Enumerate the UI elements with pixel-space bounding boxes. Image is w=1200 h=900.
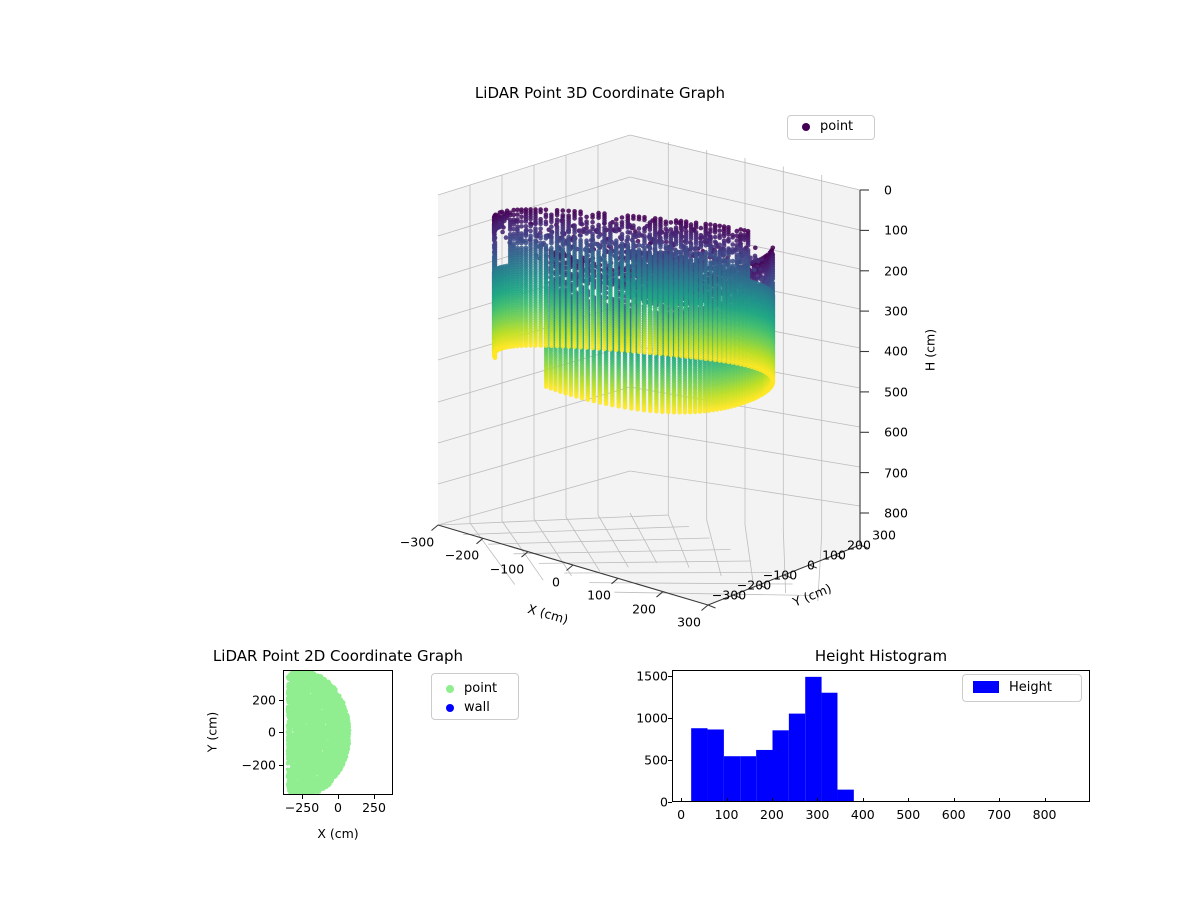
x-tickmark-hist [772,798,773,802]
z-tick-label: 0 [884,183,892,198]
y-tickmark-hist [668,676,672,677]
x-axis-label-2d: X (cm) [317,826,358,841]
x-tick-label: 200 [632,602,656,617]
legend-entry-wall-2d: wall [440,698,510,717]
x-tickmark-hist [727,798,728,802]
y-tick-label-2d: 200 [228,693,276,708]
axes-3d[interactable]: 0 100 200 300 400 500 600 700 800 H (cm)… [330,105,890,650]
x-tickmark-hist [817,798,818,802]
x-tickmark-hist [863,798,864,802]
y-tick-label: −300 [712,588,746,603]
panel-2d-title: LiDAR Point 2D Coordinate Graph [148,647,528,665]
x-tick-label-hist: 600 [942,807,966,822]
histogram-bar [724,756,740,802]
scatter-2d-canvas [284,671,393,795]
x-tick-label-hist: 100 [715,807,739,822]
legend-histogram[interactable]: Height [962,674,1082,702]
y-axis-label-2d: Y (cm) [205,712,220,752]
matplotlib-figure: LiDAR Point 3D Coordinate Graph [0,0,1200,900]
z-tick-label: 300 [884,304,908,319]
axes-2d[interactable] [283,670,393,795]
z-tick-label: 200 [884,264,908,279]
wall-marker-icon [446,704,454,712]
x-tick-label-hist: 300 [805,807,829,822]
histogram-bar [773,730,789,802]
x-tickmark-hist [999,798,1000,802]
legend-2d[interactable]: point wall [431,673,519,720]
x-tick-label-hist: 700 [987,807,1011,822]
x-tick-label-2d: 0 [334,800,342,815]
y-tickmark-2d [279,700,283,701]
y-tick-label-hist: 1500 [620,669,668,684]
histogram-bar [805,677,821,802]
y-tick-label: 300 [872,528,896,543]
y-tickmark-hist [668,760,672,761]
x-tick-label: −300 [400,535,434,550]
y-tick-label: 0 [807,558,815,573]
z-axis-label: H (cm) [923,329,938,371]
x-tickmark-2d [338,795,339,799]
y-tickmark-2d [279,765,283,766]
x-tickmark-hist [1045,798,1046,802]
y-tickmark-2d [279,732,283,733]
x-tick-label-2d: 250 [362,800,386,815]
histogram-bar [837,790,853,802]
x-tick-label: −100 [490,562,524,577]
x-tick-label: 300 [677,615,701,630]
x-tick-label: 100 [587,588,611,603]
x-tickmark-hist [681,798,682,802]
histogram-bar [708,729,724,802]
y-tickmark-hist [668,802,672,803]
z-tick-label: 600 [884,425,908,440]
x-tick-label: −200 [445,548,479,563]
x-tickmark-2d [302,795,303,799]
x-tickmark-hist [908,798,909,802]
height-patch-icon [973,681,999,693]
histogram-bar [756,750,772,802]
x-tick-label-hist: 400 [851,807,875,822]
legend-entry-point: point [796,120,866,133]
z-tick-label: 400 [884,344,908,359]
x-tick-label-hist: 500 [896,807,920,822]
x-tick-label-hist: 0 [677,807,685,822]
x-tick-label-hist: 200 [760,807,784,822]
y-tick-label-hist: 1000 [620,711,668,726]
legend-label: point [464,681,497,696]
y-tick-label-hist: 500 [620,753,668,768]
histogram-bar [691,728,707,802]
z-tick-label: 800 [884,506,908,521]
legend-entry-point-2d: point [440,679,510,698]
y-tick-label-2d: 0 [228,725,276,740]
histogram-bar [822,693,838,802]
y-tick-label-hist: 0 [620,795,668,810]
y-tick-label: 100 [822,548,846,563]
legend-3d[interactable]: point [787,115,875,140]
z-tick-label: 700 [884,466,908,481]
legend-label: Height [1009,680,1052,695]
x-tick-label: 0 [552,575,560,590]
histogram-bar [789,714,805,802]
page-title: LiDAR Point 3D Coordinate Graph [0,84,1200,102]
x-tick-label-hist: 800 [1033,807,1057,822]
point-marker-icon [446,685,454,693]
y-tick-label-2d: −200 [228,758,276,773]
x-tickmark-hist [954,798,955,802]
x-tickmark-2d [374,795,375,799]
legend-label: point [820,119,853,134]
histogram-bar [740,756,756,802]
x-tick-label-2d: −250 [285,800,319,815]
panel-hist-title: Height Histogram [672,647,1090,665]
z-tick-label: 100 [884,223,908,238]
y-tickmark-hist [668,718,672,719]
axes-3d-canvas [330,105,890,650]
legend-entry-height: Height [971,679,1073,695]
point-marker-icon [802,123,810,131]
legend-label: wall [464,700,490,715]
z-ticks-3d [860,190,869,513]
z-tick-label: 500 [884,385,908,400]
y-tick-label: 200 [847,538,871,553]
